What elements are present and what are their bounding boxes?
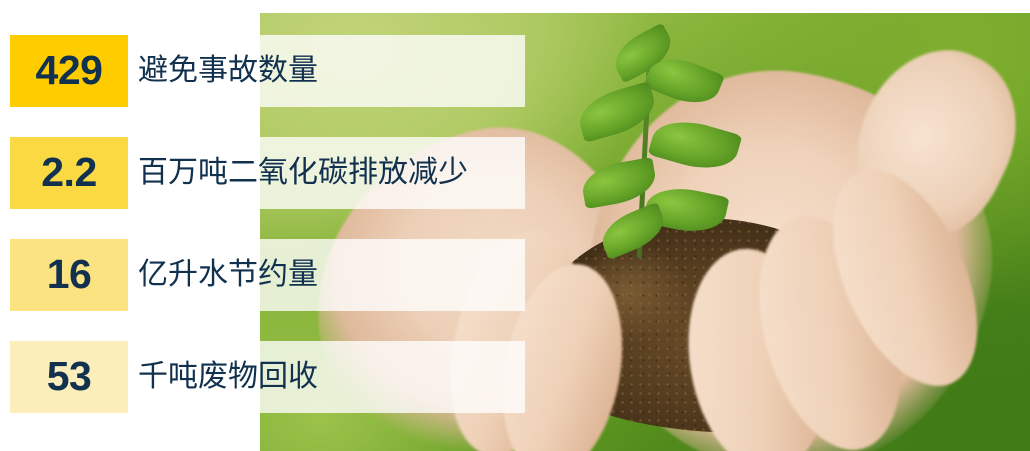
stat-value-chip: 429 (10, 35, 128, 107)
stat-label: 亿升水节约量 (138, 260, 318, 290)
stat-label: 千吨废物回收 (138, 362, 318, 392)
infographic-stage: 429 避免事故数量 2.2 百万吨二氧化碳排放减少 16 亿升水节约量 53 … (0, 0, 1030, 451)
stat-value: 16 (47, 254, 92, 295)
stat-row: 2.2 百万吨二氧化碳排放减少 (10, 137, 468, 209)
stat-label: 百万吨二氧化碳排放减少 (138, 158, 468, 188)
stat-value: 2.2 (41, 152, 97, 193)
stat-value: 53 (47, 356, 92, 397)
stat-label: 避免事故数量 (138, 56, 318, 86)
stat-row: 53 千吨废物回收 (10, 341, 318, 413)
stat-value-chip: 2.2 (10, 137, 128, 209)
stat-value-chip: 16 (10, 239, 128, 311)
stat-row: 429 避免事故数量 (10, 35, 318, 107)
stat-value-chip: 53 (10, 341, 128, 413)
background-photo (260, 13, 1030, 451)
stat-row: 16 亿升水节约量 (10, 239, 318, 311)
stat-value: 429 (36, 50, 103, 91)
